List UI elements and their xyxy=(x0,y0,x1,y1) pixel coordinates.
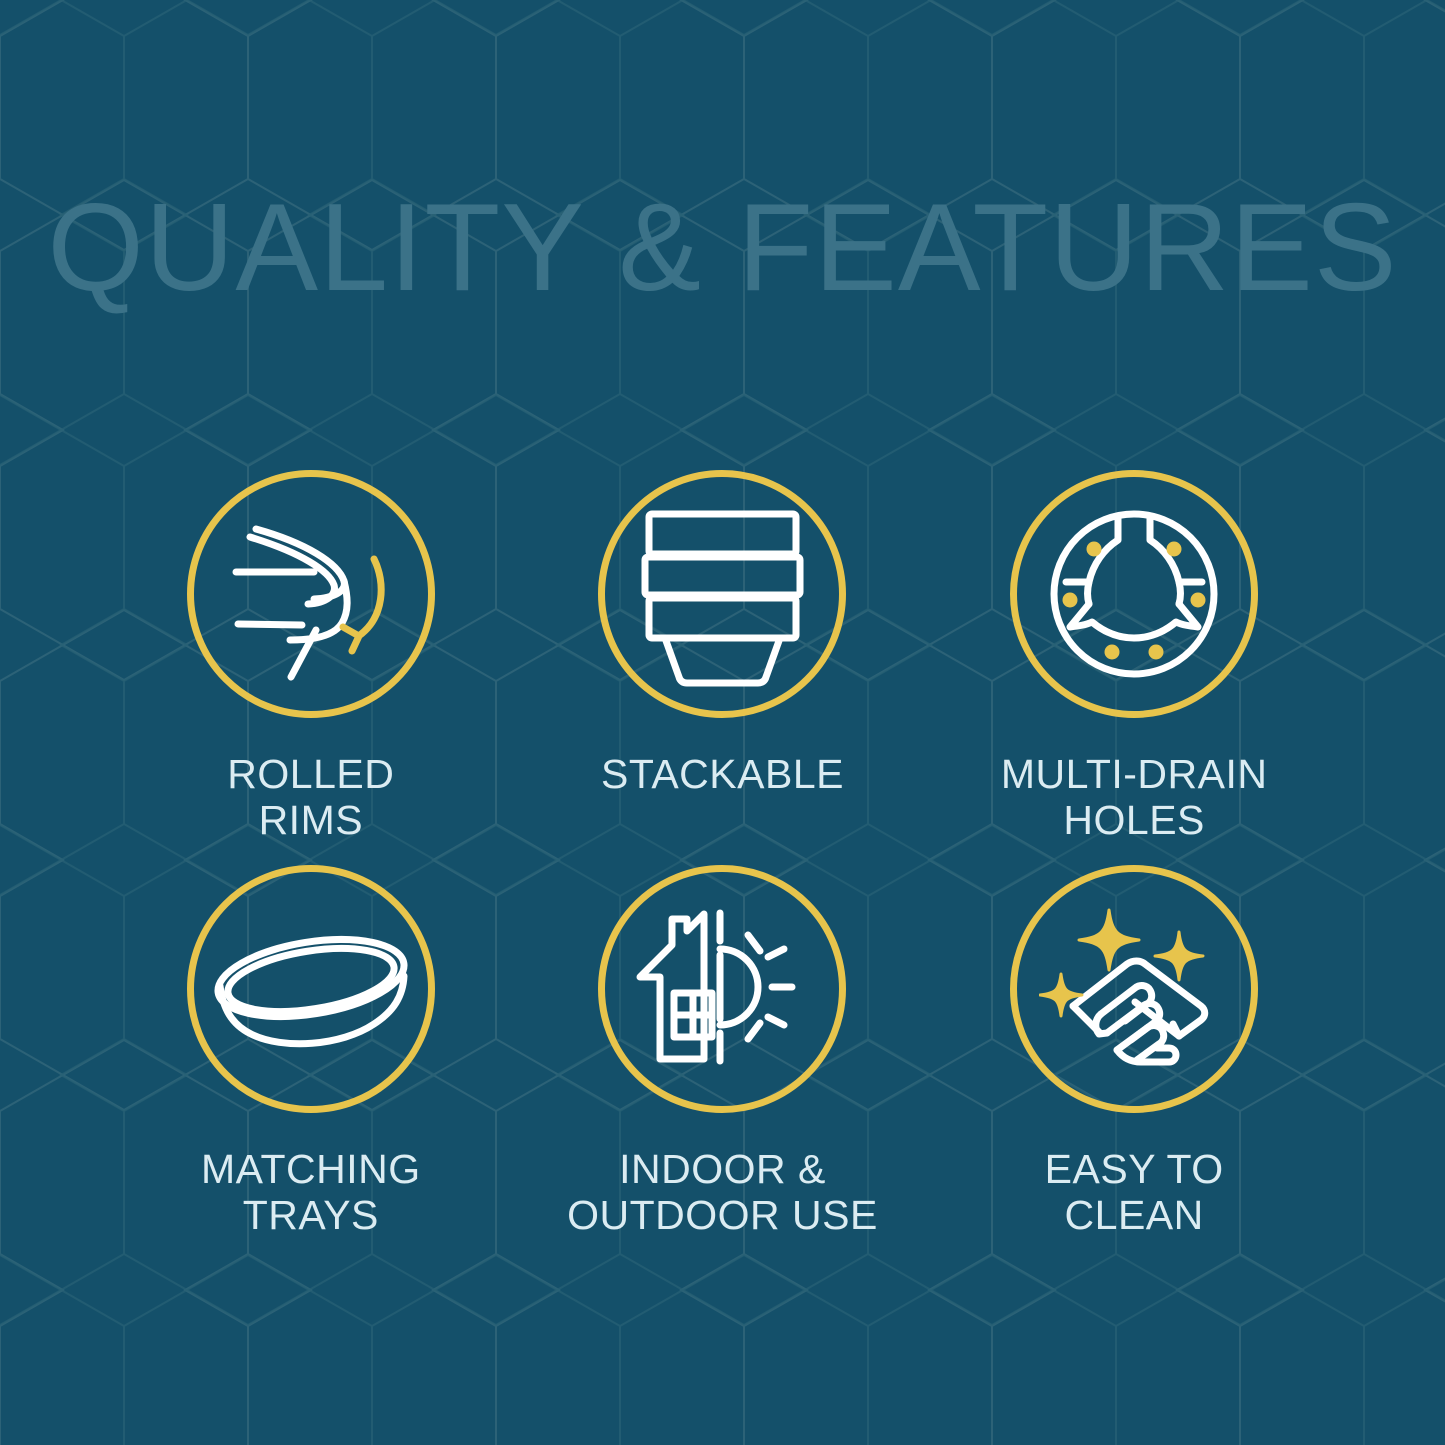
saucer-tray-icon xyxy=(211,924,411,1054)
feature-label-rolled-rims: ROLLED RIMS xyxy=(227,752,394,844)
quality-and-features-infographic: QUALITY & FEATURES xyxy=(0,0,1445,1445)
icon-ring-matching-trays xyxy=(187,865,435,1113)
icon-ring-multi-drain-holes xyxy=(1010,470,1258,718)
house-sun-icon xyxy=(632,907,812,1072)
feature-label-stackable: STACKABLE xyxy=(601,752,844,798)
drain-holes-icon xyxy=(1044,504,1224,684)
feature-label-multi-drain-holes: MULTI-DRAIN HOLES xyxy=(1001,752,1268,844)
feature-grid: ROLLED RIMS STACKABL xyxy=(105,470,1340,1260)
icon-ring-indoor-outdoor-use xyxy=(598,865,846,1113)
feature-item-rolled-rims[interactable]: ROLLED RIMS xyxy=(105,470,517,865)
feature-label-matching-trays: MATCHING TRAYS xyxy=(201,1147,421,1239)
feature-label-indoor-outdoor-use: INDOOR & OUTDOOR USE xyxy=(567,1147,878,1239)
feature-item-stackable[interactable]: STACKABLE xyxy=(517,470,929,865)
feature-item-easy-to-clean[interactable]: EASY TO CLEAN xyxy=(928,865,1340,1260)
feature-item-multi-drain-holes[interactable]: MULTI-DRAIN HOLES xyxy=(928,470,1340,865)
icon-ring-stackable xyxy=(598,470,846,718)
feature-item-matching-trays[interactable]: MATCHING TRAYS xyxy=(105,865,517,1260)
rolled-rim-icon xyxy=(216,499,406,689)
page-title: QUALITY & FEATURES xyxy=(0,186,1445,310)
feature-label-easy-to-clean: EASY TO CLEAN xyxy=(1045,1147,1224,1239)
stacked-pots-icon xyxy=(635,502,810,687)
feature-item-indoor-outdoor-use[interactable]: INDOOR & OUTDOOR USE xyxy=(517,865,929,1260)
icon-ring-rolled-rims xyxy=(187,470,435,718)
hand-wiping-sparkle-icon xyxy=(1039,902,1229,1077)
icon-ring-easy-to-clean xyxy=(1010,865,1258,1113)
